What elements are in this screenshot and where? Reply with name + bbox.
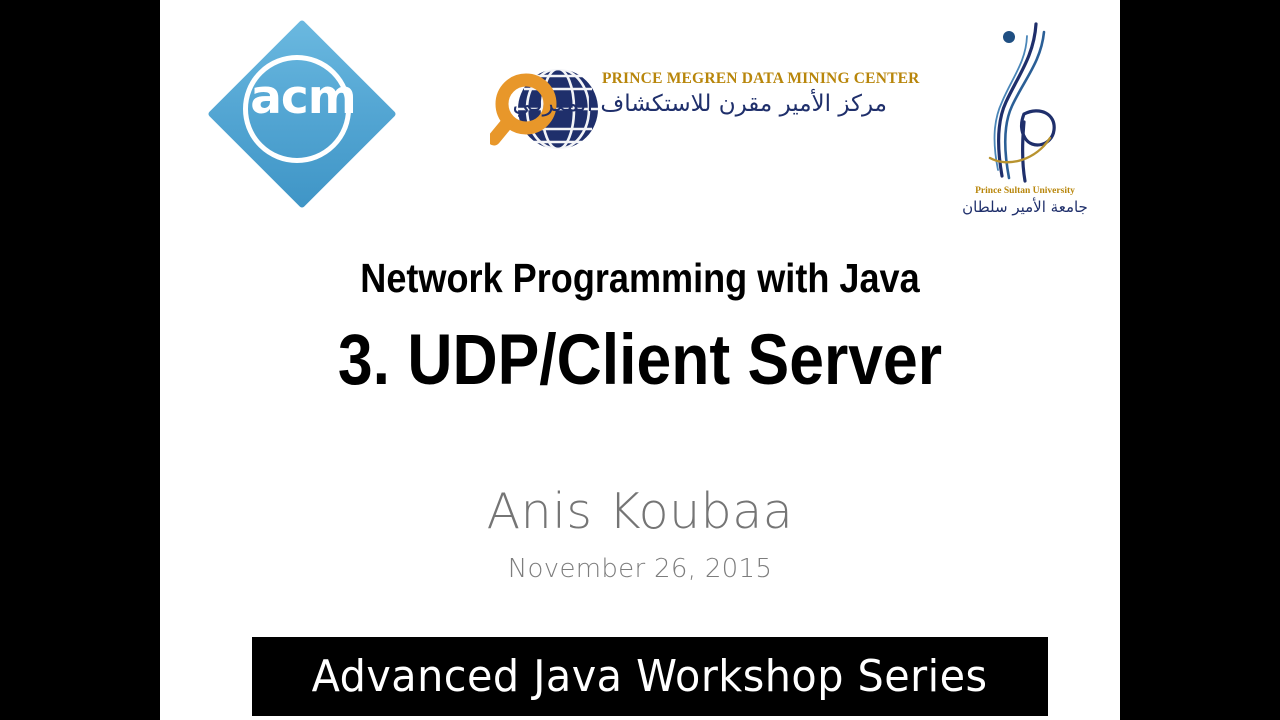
author-name: Anis Koubaa: [160, 487, 1120, 536]
psu-name-en: Prince Sultan University: [960, 186, 1090, 196]
data-mining-center-title-en: PRINCE MEGREN DATA MINING CENTER: [602, 70, 887, 88]
slide-canvas: acm: [160, 0, 1120, 720]
series-banner: Advanced Java Workshop Series: [252, 637, 1048, 716]
data-mining-center-title-ar: مركز الأمير مقرن للاستكشاف المعرفي: [602, 88, 887, 121]
data-mining-center-logo: PRINCE MEGREN DATA MINING CENTER مركز ال…: [490, 56, 890, 156]
psu-name-ar: جامعة الأمير سلطان: [960, 198, 1090, 216]
prince-sultan-university-logo: Prince Sultan University جامعة الأمير سل…: [960, 18, 1090, 223]
series-banner-text: Advanced Java Workshop Series: [312, 655, 988, 699]
slide-title: 3. UDP/Client Server: [218, 325, 1063, 396]
data-mining-center-wordmark: PRINCE MEGREN DATA MINING CENTER مركز ال…: [602, 70, 887, 121]
letterbox-left: [0, 0, 160, 720]
course-title: Network Programming with Java: [218, 258, 1063, 299]
logo-row: acm: [160, 0, 1120, 235]
acm-wordmark: acm: [210, 74, 396, 121]
presentation-date: November 26, 2015: [160, 556, 1120, 582]
letterbox-right: [1120, 0, 1280, 720]
psu-calligraphy-icon: [978, 18, 1073, 183]
slide-frame: acm: [0, 0, 1280, 720]
acm-logo: acm: [210, 22, 396, 208]
